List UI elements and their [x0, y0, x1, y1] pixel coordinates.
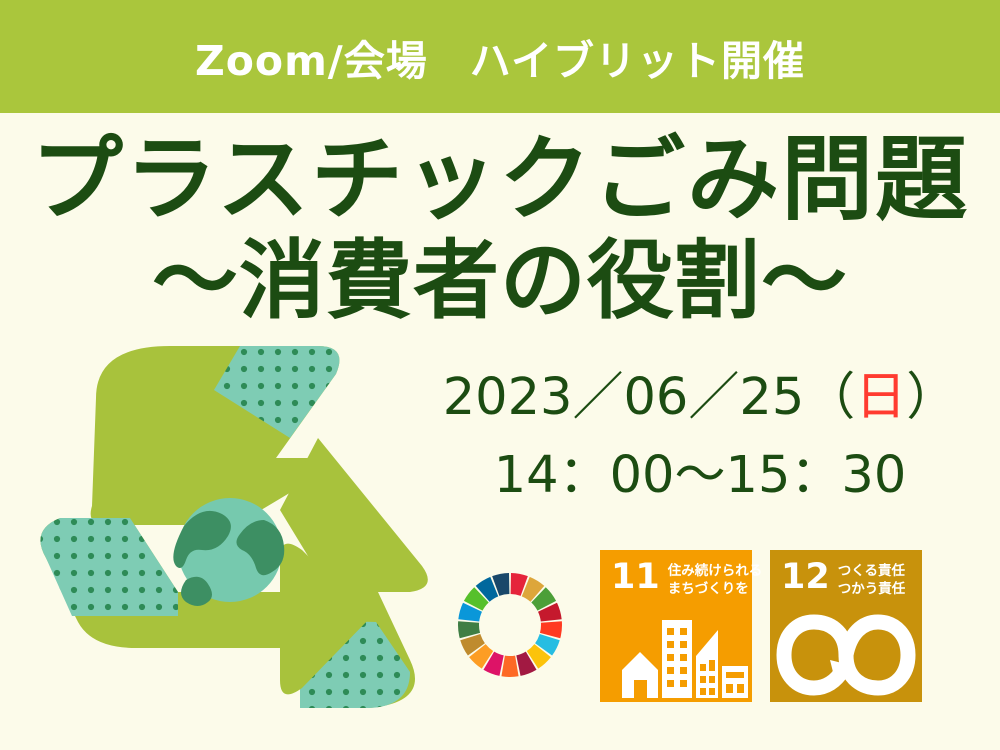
recycle-arrows-illustration — [18, 330, 438, 730]
sdg-goal-12-card: 12 つくる責任 つかう責任 — [770, 550, 922, 702]
city-buildings-icon — [600, 608, 752, 702]
sdg-goal-11-card: 11 住み続けられる まちづくりを — [600, 550, 752, 702]
event-date-suffix: ） — [906, 368, 957, 427]
banner-label: Zoom/会場 ハイブリット開催 — [0, 0, 1000, 113]
event-poster: Zoom/会場 ハイブリット開催 プラスチックごみ問題 〜消費者の役割〜 202… — [0, 0, 1000, 750]
sdg-wheel-segment — [501, 656, 518, 677]
sdg-logo-row: 11 住み続けられる まちづくりを — [455, 548, 935, 702]
event-weekday: 日 — [855, 368, 906, 427]
page-title: プラスチックごみ問題 — [0, 132, 1000, 229]
sdg-goal-11-header: 11 住み続けられる まちづくりを — [611, 561, 744, 609]
sdg-goal-11-number: 11 — [611, 561, 660, 593]
schedule-block: 2023／06／25（日） 14：00〜15：30 — [415, 366, 985, 508]
page-subtitle: 〜消費者の役割〜 — [0, 236, 1000, 326]
sdg-goal-12-caption: つくる責任 つかう責任 — [838, 561, 906, 598]
infinity-loop-arrow-icon — [770, 608, 922, 702]
sdg-goal-12-header: 12 つくる責任 つかう責任 — [781, 561, 914, 609]
sdg-goal-12-number: 12 — [781, 561, 830, 593]
sdg-goal-12-caption-line-1: つくる責任 — [838, 563, 906, 581]
sdg-goal-11-caption-line-2: まちづくりを — [668, 581, 763, 599]
sdg-goal-12-caption-line-2: つかう責任 — [838, 581, 906, 599]
event-date-prefix: 2023／06／25（ — [443, 368, 856, 427]
hybrid-format-banner: Zoom/会場 ハイブリット開催 — [0, 0, 1000, 113]
sdg-color-wheel-icon — [455, 570, 565, 680]
event-date: 2023／06／25（日） — [415, 366, 985, 430]
sdg-goal-11-caption: 住み続けられる まちづくりを — [668, 561, 763, 598]
sdg-goal-11-caption-line-1: 住み続けられる — [668, 563, 763, 581]
event-time: 14：00〜15：30 — [415, 444, 985, 508]
